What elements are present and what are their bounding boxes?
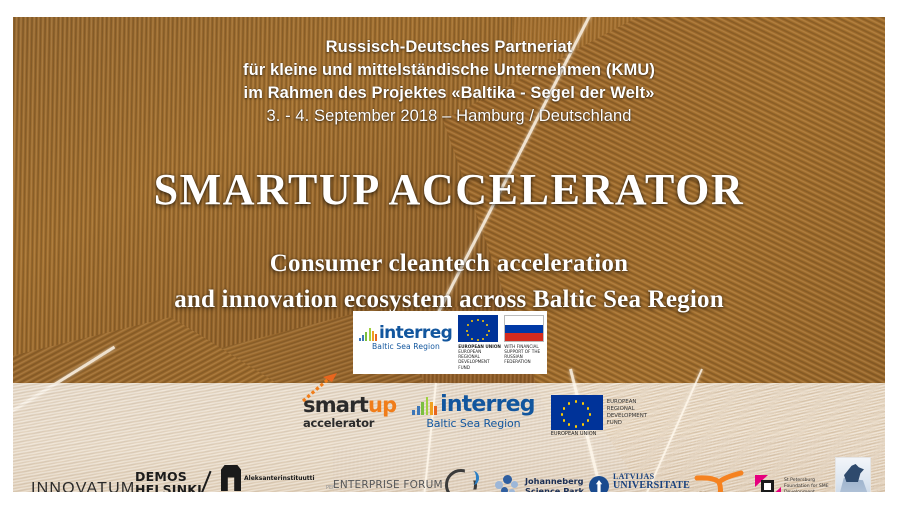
- header-line-1: Russisch-Deutsches Partneriat: [13, 36, 885, 59]
- interreg-bars-icon: [412, 397, 437, 415]
- interreg-wordmark: interreg: [379, 325, 452, 341]
- partner-logo-enterprise-forum-poland: PEF ENTERPRISE FORUM POLAND: [333, 469, 443, 492]
- event-header: Russisch-Deutsches Partneriat für kleine…: [13, 36, 885, 128]
- partner-logo-spb-foundation: St.Petersburg Foundation for SME Develop…: [755, 467, 842, 492]
- partner-logo-statue: [835, 459, 871, 492]
- efp-text-block: PEF ENTERPRISE FORUM POLAND: [333, 479, 443, 493]
- interreg-lockup: interreg Baltic Sea Region: [359, 315, 544, 370]
- demos-label-line-2: HELSINKI: [135, 483, 202, 492]
- cleantech-wave-icon: [467, 471, 479, 485]
- russia-flag-caption: WITH FINANCIAL SUPPORT OF THE RUSSIAN FE…: [504, 344, 548, 365]
- partner-logo-aleksanteri: Aleksanterinstituutti: [221, 465, 315, 492]
- aleksanteri-mark-icon: [221, 465, 241, 491]
- smartup-tagline: accelerator: [303, 418, 396, 430]
- partner-logo-row: INNOVATUM DEMOS HELSINKI Aleksanterinsti…: [13, 457, 885, 492]
- spb-label: St.Petersburg Foundation for SME Develop…: [784, 478, 842, 492]
- johanneberg-label-line-2: Science Park: [525, 486, 584, 492]
- interreg-mark: interreg Baltic Sea Region: [359, 315, 452, 351]
- efp-label-sub: POLAND: [333, 491, 443, 493]
- eu-emblem-block: EUROPEAN UNION EUROPEAN REGIONAL DEVELOP…: [551, 395, 657, 430]
- subtitle: Consumer cleantech acceleration and inno…: [13, 246, 885, 318]
- eu-fund-text: EUROPEAN REGIONAL DEVELOPMENT FUND: [607, 395, 657, 427]
- spb-mark-icon: [755, 475, 781, 492]
- eu-flag-caption: EUROPEAN UNION EUROPEAN REGIONAL DEVELOP…: [458, 344, 502, 370]
- smartup-accelerator-logo: smartup accelerator: [303, 395, 396, 430]
- interreg-wordmark: interreg: [440, 395, 535, 415]
- eu-flag-icon: EUROPEAN UNION: [551, 395, 603, 430]
- interreg-tagline: Baltic Sea Region: [412, 417, 534, 430]
- partner-logo-johanneberg-science-park: Johanneberg Science Park: [495, 466, 584, 492]
- page-title: SMARTUP ACCELERATOR: [13, 165, 885, 215]
- eu-flag-block: EUROPEAN UNION EUROPEAN REGIONAL DEVELOP…: [458, 315, 498, 370]
- efp-label-main: ENTERPRISE FORUM: [333, 479, 443, 491]
- efp-tick-label: PEF: [326, 485, 335, 491]
- smartup-arrow-icon: [299, 373, 339, 403]
- eu-flag-caption: EUROPEAN UNION: [551, 431, 611, 437]
- eu-caption-body: EUROPEAN REGIONAL DEVELOPMENT FUND: [458, 349, 502, 370]
- russia-caption-body: WITH FINANCIAL SUPPORT OF THE RUSSIAN FE…: [504, 344, 548, 365]
- header-line-date: 3. - 4. September 2018 – Hamburg / Deuts…: [13, 105, 885, 128]
- innovatum-label: INNOVATUM: [31, 480, 135, 492]
- partner-logo-innovatum: INNOVATUM: [31, 469, 135, 492]
- johanneberg-label-line-1: Johanneberg: [525, 476, 584, 486]
- latvijas-seal-icon: [589, 476, 609, 492]
- header-line-3: im Rahmen des Projektes «Baltika - Segel…: [13, 82, 885, 105]
- interreg-wordrow: interreg: [359, 325, 452, 341]
- interreg-tagline: Baltic Sea Region: [359, 342, 452, 351]
- russia-flag-icon: [504, 315, 544, 342]
- presentation-slide: Russisch-Deutsches Partneriat für kleine…: [0, 0, 898, 505]
- partner-logo-cleantech-c: [445, 465, 477, 492]
- aleksanteri-label: Aleksanterinstituutti: [244, 475, 315, 482]
- johanneberg-dots-icon: [495, 475, 521, 492]
- russia-flag-block: WITH FINANCIAL SUPPORT OF THE RUSSIAN FE…: [504, 315, 544, 364]
- interreg-bars-icon: [359, 327, 377, 341]
- partner-logo-demos-helsinki: DEMOS HELSINKI: [135, 463, 202, 492]
- statue-emblem-icon: [835, 457, 871, 492]
- tehnopol-mark-icon: Tehnopol: [693, 464, 747, 492]
- tehnopol-label: Tehnopol: [699, 491, 725, 492]
- sponsor-logo-row: smartup accelerator interreg B: [303, 395, 657, 430]
- interreg-logo-secondary: interreg Baltic Sea Region: [412, 395, 534, 430]
- subtitle-line-1: Consumer cleantech acceleration: [13, 246, 885, 282]
- interreg-logo-card: interreg Baltic Sea Region: [353, 311, 547, 374]
- eu-flag-icon: [458, 315, 498, 342]
- header-line-2: für kleine und mittelständische Unterneh…: [13, 59, 885, 82]
- slide-canvas: Russisch-Deutsches Partneriat für kleine…: [13, 17, 885, 492]
- johanneberg-text: Johanneberg Science Park: [525, 476, 584, 492]
- partner-logo-tehnopol: Tehnopol: [693, 461, 747, 492]
